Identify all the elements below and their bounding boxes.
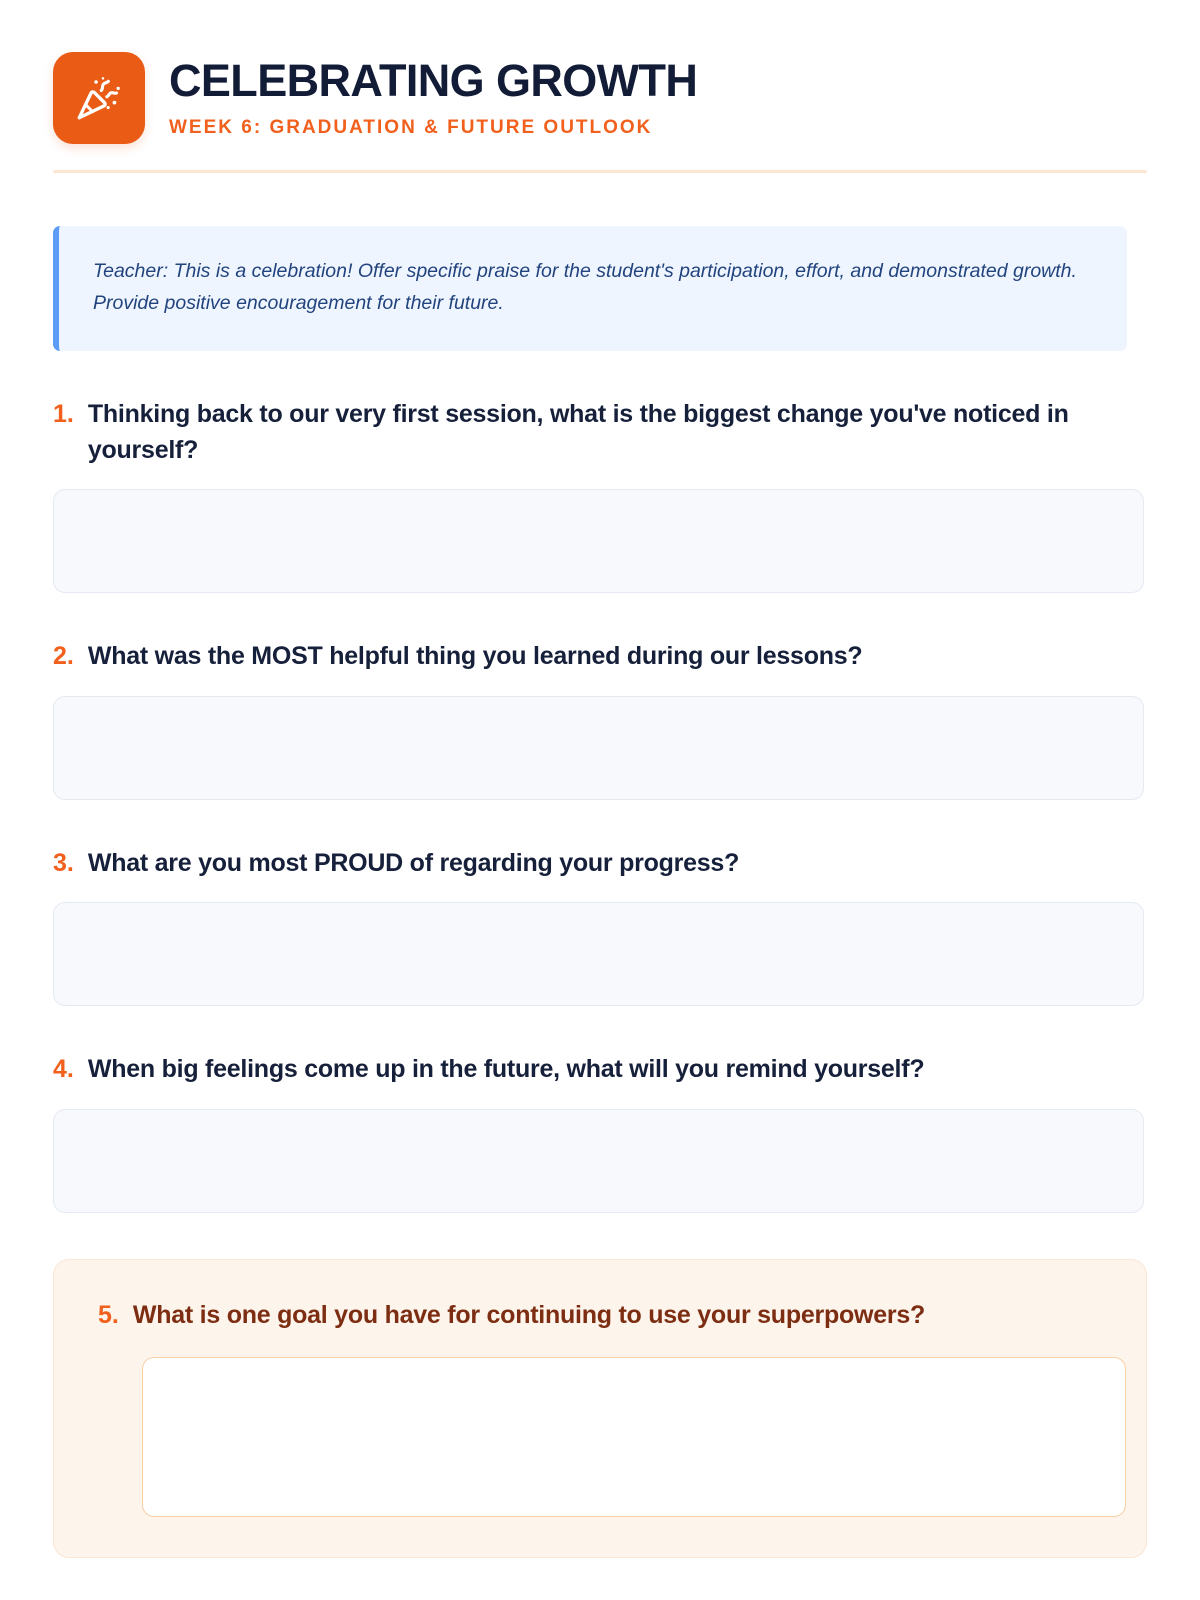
worksheet-page: CELEBRATING GROWTH WEEK 6: GRADUATION & … — [0, 0, 1200, 1600]
question-number-4: 4. — [53, 1052, 74, 1087]
question-heading-3: 3. What are you most PROUD of regarding … — [53, 846, 1123, 882]
answer-input-5[interactable] — [142, 1357, 1126, 1517]
page-title: CELEBRATING GROWTH — [169, 58, 697, 105]
question-number-1: 1. — [53, 397, 74, 432]
question-number-2: 2. — [53, 639, 74, 674]
page-subtitle: WEEK 6: GRADUATION & FUTURE OUTLOOK — [169, 117, 697, 139]
question-heading-2: 2. What was the MOST helpful thing you l… — [53, 639, 1123, 675]
teacher-note-text: Teacher: This is a celebration! Offer sp… — [93, 256, 1093, 319]
question-block-1: 1. Thinking back to our very first sessi… — [53, 397, 1147, 593]
teacher-note-callout: Teacher: This is a celebration! Offer sp… — [53, 226, 1127, 351]
answer-input-1[interactable] — [53, 489, 1144, 593]
question-block-2: 2. What was the MOST helpful thing you l… — [53, 639, 1147, 800]
question-heading-4: 4. When big feelings come up in the futu… — [53, 1052, 1123, 1088]
question-block-5-highlight: 5. What is one goal you have for continu… — [53, 1259, 1147, 1559]
header-divider — [53, 170, 1147, 173]
question-text-2: What was the MOST helpful thing you lear… — [88, 639, 863, 675]
question-text-5: What is one goal you have for continuing… — [133, 1298, 925, 1334]
answer-input-3[interactable] — [53, 902, 1144, 1006]
answer-input-4[interactable] — [53, 1109, 1144, 1213]
question-number-5: 5. — [98, 1298, 119, 1333]
header-text-group: CELEBRATING GROWTH WEEK 6: GRADUATION & … — [169, 52, 697, 139]
question-text-1: Thinking back to our very first session,… — [88, 397, 1118, 468]
question-text-4: When big feelings come up in the future,… — [88, 1052, 925, 1088]
page-header: CELEBRATING GROWTH WEEK 6: GRADUATION & … — [53, 52, 1147, 144]
question-heading-1: 1. Thinking back to our very first sessi… — [53, 397, 1123, 468]
question-text-3: What are you most PROUD of regarding you… — [88, 846, 739, 882]
question-block-3: 3. What are you most PROUD of regarding … — [53, 846, 1147, 1007]
question-block-4: 4. When big feelings come up in the futu… — [53, 1052, 1147, 1213]
question-number-3: 3. — [53, 846, 74, 881]
questions-list: 1. Thinking back to our very first sessi… — [53, 397, 1147, 1558]
party-popper-icon — [53, 52, 145, 144]
question-heading-5: 5. What is one goal you have for continu… — [98, 1298, 1102, 1334]
answer-input-2[interactable] — [53, 696, 1144, 800]
